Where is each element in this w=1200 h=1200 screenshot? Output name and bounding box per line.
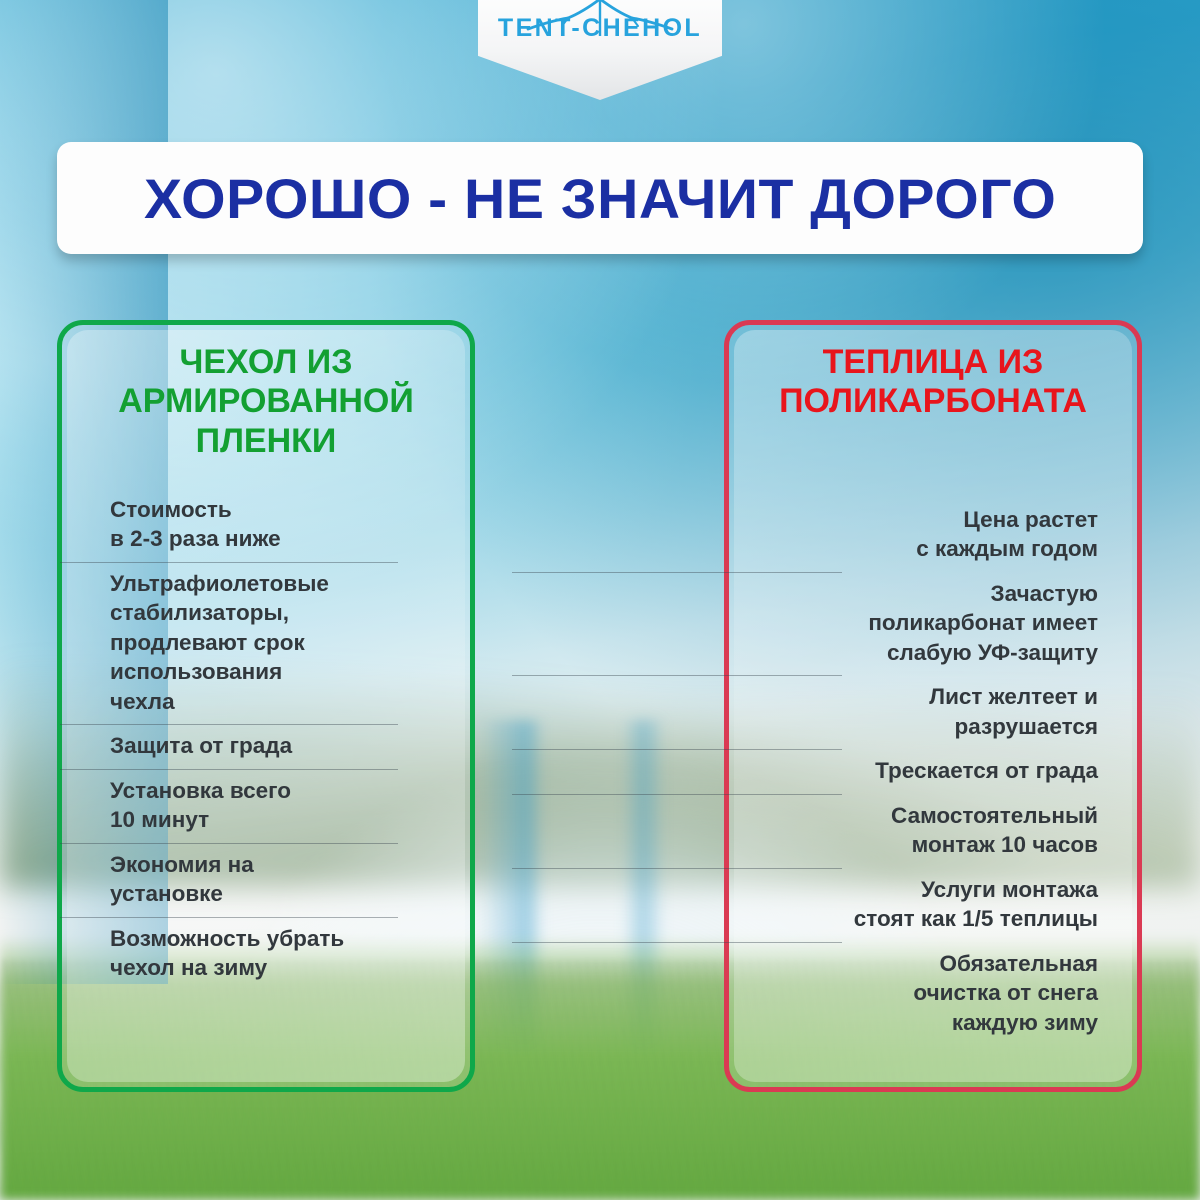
feature-item: Лист желтеет иразрушается: [778, 675, 1098, 749]
headline-banner: ХОРОШО - НЕ ЗНАЧИТ ДОРОГО: [57, 142, 1143, 254]
infographic-poster: TENT-CHEHOL ХОРОШО - НЕ ЗНАЧИТ ДОРОГО ЧЕ…: [0, 0, 1200, 1200]
feature-item: Трескается от града: [778, 749, 1098, 793]
feature-line: Цена растет: [778, 505, 1098, 534]
feature-line: в 2-3 раза ниже: [110, 524, 400, 553]
feature-item: Стоимостьв 2-3 раза ниже: [110, 488, 400, 562]
card-title-line: АРМИРОВАННОЙ: [80, 382, 452, 421]
card-title-line: ПОЛИКАРБОНАТА: [747, 382, 1119, 421]
feature-line: Экономия на: [110, 850, 400, 879]
feature-list-cover: Стоимостьв 2-3 раза нижеУльтрафиолетовые…: [110, 488, 400, 991]
page-title: ХОРОШО - НЕ ЗНАЧИТ ДОРОГО: [144, 166, 1056, 231]
feature-line: установке: [110, 879, 400, 908]
feature-line: Самостоятельный: [778, 801, 1098, 830]
feature-line: Обязательная: [778, 949, 1098, 978]
feature-line: очистка от снега: [778, 978, 1098, 1007]
feature-line: стоят как 1/5 теплицы: [778, 904, 1098, 933]
feature-item: Услуги монтажастоят как 1/5 теплицы: [778, 868, 1098, 942]
feature-line: с каждым годом: [778, 534, 1098, 563]
feature-item: Самостоятельныймонтаж 10 часов: [778, 794, 1098, 868]
feature-item: Цена растетс каждым годом: [778, 498, 1098, 572]
feature-line: использования: [110, 657, 400, 686]
brand-wordmark: TENT-CHEHOL: [498, 14, 702, 43]
feature-line: Защита от града: [110, 731, 400, 760]
feature-line: Услуги монтажа: [778, 875, 1098, 904]
feature-line: Ультрафиолетовые: [110, 569, 400, 598]
feature-line: каждую зиму: [778, 1008, 1098, 1037]
feature-line: продлевают срок: [110, 628, 400, 657]
feature-line: Возможность убрать: [110, 924, 400, 953]
feature-line: монтаж 10 часов: [778, 830, 1098, 859]
feature-line: 10 минут: [110, 805, 400, 834]
feature-line: чехла: [110, 687, 400, 716]
feature-item: Зачастуюполикарбонат имеетслабую УФ-защи…: [778, 572, 1098, 675]
feature-item: Обязательнаяочистка от снегакаждую зиму: [778, 942, 1098, 1045]
feature-line: Лист желтеет и: [778, 682, 1098, 711]
feature-line: разрушается: [778, 712, 1098, 741]
feature-item: Установка всего10 минут: [110, 769, 400, 843]
feature-line: чехол на зиму: [110, 953, 400, 982]
card-title-line: ЧЕХОЛ ИЗ: [80, 343, 452, 382]
feature-list-polycarbonate: Цена растетс каждым годомЗачастуюполикар…: [778, 498, 1098, 1045]
feature-item: Возможность убратьчехол на зиму: [110, 917, 400, 991]
feature-line: слабую УФ-защиту: [778, 638, 1098, 667]
feature-item: Ультрафиолетовыестабилизаторы,продлевают…: [110, 562, 400, 724]
feature-item: Защита от града: [110, 724, 400, 768]
feature-line: Установка всего: [110, 776, 400, 805]
feature-line: Трескается от града: [778, 756, 1098, 785]
card-title-line: ТЕПЛИЦА ИЗ: [747, 343, 1119, 382]
feature-line: Стоимость: [110, 495, 400, 524]
feature-item: Экономия наустановке: [110, 843, 400, 917]
card-title-polycarbonate: ТЕПЛИЦА ИЗПОЛИКАРБОНАТА: [747, 343, 1119, 422]
feature-line: стабилизаторы,: [110, 598, 400, 627]
card-title-line: ПЛЕНКИ: [80, 422, 452, 461]
feature-line: поликарбонат имеет: [778, 608, 1098, 637]
feature-line: Зачастую: [778, 579, 1098, 608]
card-title-cover: ЧЕХОЛ ИЗАРМИРОВАННОЙПЛЕНКИ: [80, 343, 452, 461]
